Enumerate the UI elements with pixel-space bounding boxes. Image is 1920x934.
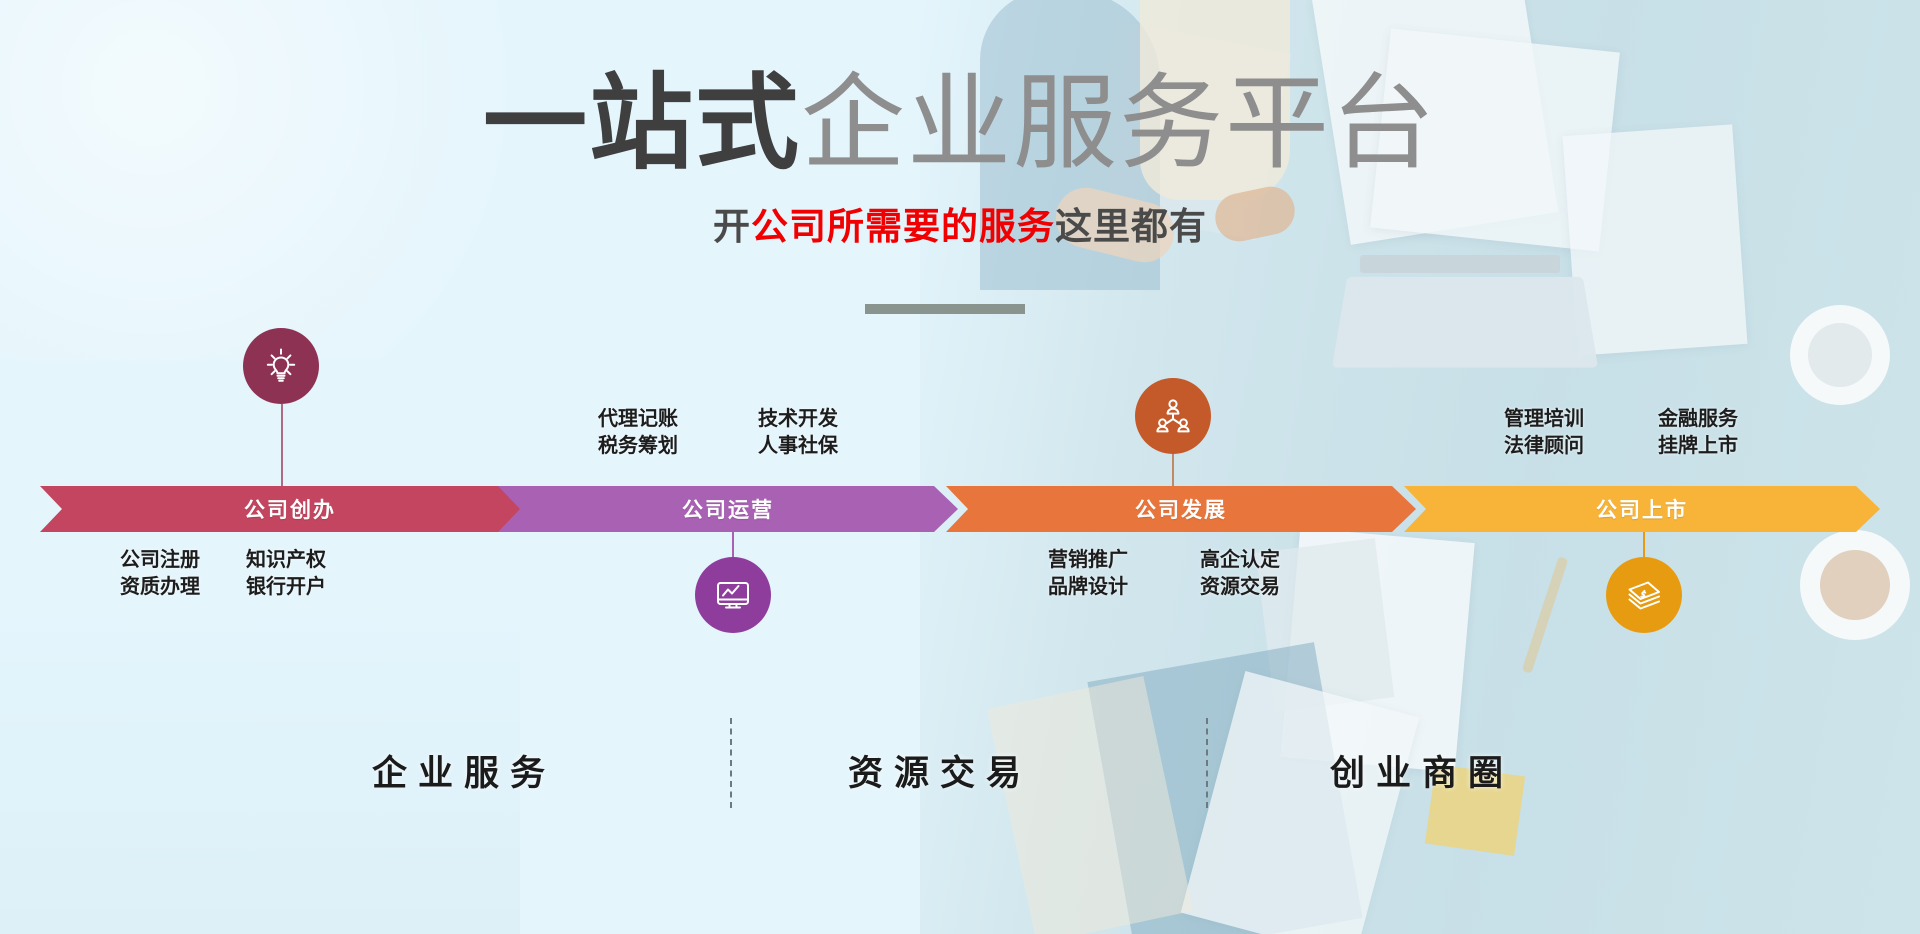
infographic-canvas: 一站式企业服务平台 开公司所需要的服务这里都有 公司创办 公司注册: [0, 0, 1920, 934]
stage-4-label-group-1: 管理培训 法律顾问: [1504, 406, 1584, 460]
monitor-chart-icon: [711, 573, 755, 617]
stage-3-stem: [1172, 452, 1174, 488]
stage-2-label-2-line1: 技术开发: [758, 406, 838, 433]
category-separator-1: [730, 718, 732, 808]
people-network-icon: [1151, 394, 1195, 438]
lightbulb-icon: [259, 344, 303, 388]
stage-3-label-2-line1: 高企认定: [1200, 547, 1280, 574]
stage-1-label-2-line2: 银行开户: [246, 574, 326, 601]
stage-1-icon-bubble[interactable]: [243, 328, 319, 404]
stage-2-label-1-line2: 税务筹划: [598, 433, 678, 460]
stage-4-icon-bubble[interactable]: [1606, 557, 1682, 633]
stage-4-label-1-line2: 法律顾问: [1504, 433, 1584, 460]
stage-2-label-group-1: 代理记账 税务筹划: [598, 406, 678, 460]
stage-4-label-2-line2: 挂牌上市: [1658, 433, 1738, 460]
stage-2-label-group-2: 技术开发 人事社保: [758, 406, 838, 460]
stage-4-bar[interactable]: 公司上市: [1404, 486, 1880, 532]
stage-4-title: 公司上市: [1426, 486, 1858, 532]
stage-3-label-group-1: 营销推广 品牌设计: [1048, 547, 1128, 601]
stage-2-bar[interactable]: 公司运营: [498, 486, 958, 532]
banknotes-icon: [1622, 573, 1666, 617]
stage-3-label-1-line2: 品牌设计: [1048, 574, 1128, 601]
stage-3-label-1-line1: 营销推广: [1048, 547, 1128, 574]
stage-4-label-2-line1: 金融服务: [1658, 406, 1738, 433]
stage-4-label-1-line1: 管理培训: [1504, 406, 1584, 433]
stage-3-label-2-line2: 资源交易: [1200, 574, 1280, 601]
stage-1-stem: [281, 404, 283, 488]
stage-2-label-1-line1: 代理记账: [598, 406, 678, 433]
stage-2-stem: [732, 532, 734, 560]
category-separator-2: [1206, 718, 1208, 808]
stage-1-label-2-line1: 知识产权: [246, 547, 326, 574]
stage-1-label-1-line2: 资质办理: [120, 574, 200, 601]
stage-1-title: 公司创办: [62, 486, 518, 532]
category-item-2[interactable]: 资源交易: [848, 745, 1032, 796]
stage-1-label-group-1: 公司注册 资质办理: [120, 547, 200, 601]
stage-2-label-2-line2: 人事社保: [758, 433, 838, 460]
stage-2-title: 公司运营: [520, 486, 936, 532]
stage-3-bar[interactable]: 公司发展: [946, 486, 1416, 532]
stage-2-icon-bubble[interactable]: [695, 557, 771, 633]
stage-4-stem: [1643, 532, 1645, 560]
stage-3-label-group-2: 高企认定 资源交易: [1200, 547, 1280, 601]
stage-3-title: 公司发展: [968, 486, 1394, 532]
stage-1-label-group-2: 知识产权 银行开户: [246, 547, 326, 601]
stage-1-label-1-line1: 公司注册: [120, 547, 200, 574]
stage-3-icon-bubble[interactable]: [1135, 378, 1211, 454]
category-item-1[interactable]: 企业服务: [372, 745, 556, 796]
stage-4-label-group-2: 金融服务 挂牌上市: [1658, 406, 1738, 460]
stage-1-bar[interactable]: 公司创办: [40, 486, 540, 532]
category-item-3[interactable]: 创业商圈: [1330, 745, 1514, 796]
